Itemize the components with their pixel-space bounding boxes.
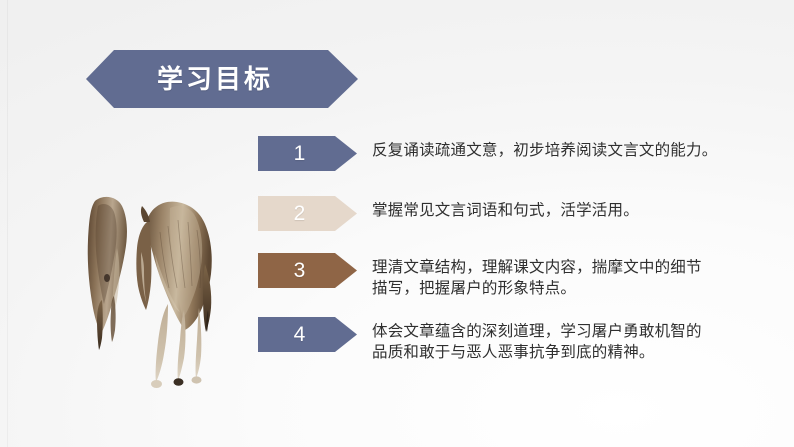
objective-text-3: 理清文章结构，理解课文内容，揣摩文中的细节 描写，把握屠户的形象特点。 xyxy=(357,253,768,299)
objective-text-1: 反复诵读疏通文意，初步培养阅读文言文的能力。 xyxy=(357,136,768,161)
objective-text-4: 体会文章蕴含的深刻道理，学习屠户勇敢机智的 品质和敢于与恶人恶事抗争到底的精神。 xyxy=(357,317,768,363)
objectives-list: 1 反复诵读疏通文意，初步培养阅读文言文的能力。 2 掌握常见文言词语和句式，活… xyxy=(258,136,768,363)
objective-item-4: 4 体会文章蕴含的深刻道理，学习屠户勇敢机智的 品质和敢于与恶人恶事抗争到底的精… xyxy=(258,317,768,363)
objective-number-arrow-2: 2 xyxy=(258,196,357,231)
slide-canvas: 学习目标 xyxy=(0,0,794,447)
wolf-pelt-left xyxy=(88,197,127,350)
objective-number-arrow-4: 4 xyxy=(258,317,357,352)
objective-number-2: 2 xyxy=(294,203,306,224)
objective-number-arrow-3: 3 xyxy=(258,253,357,288)
objective-number-4: 4 xyxy=(294,324,306,345)
page-title: 学习目标 xyxy=(157,66,287,92)
objective-item-2: 2 掌握常见文言词语和句式，活学活用。 xyxy=(258,196,768,231)
objective-item-1: 1 反复诵读疏通文意，初步培养阅读文言文的能力。 xyxy=(258,136,768,171)
objective-number-3: 3 xyxy=(294,260,306,281)
wolf-pelt-right xyxy=(136,202,211,388)
page-title-banner: 学习目标 xyxy=(86,50,358,108)
objective-number-arrow-1: 1 xyxy=(258,136,357,171)
objective-item-3: 3 理清文章结构，理解课文内容，揣摩文中的细节 描写，把握屠户的形象特点。 xyxy=(258,253,768,299)
objective-number-1: 1 xyxy=(294,143,306,164)
wolf-pelts-illustration xyxy=(84,192,232,397)
objective-text-2: 掌握常见文言词语和句式，活学活用。 xyxy=(357,196,768,221)
